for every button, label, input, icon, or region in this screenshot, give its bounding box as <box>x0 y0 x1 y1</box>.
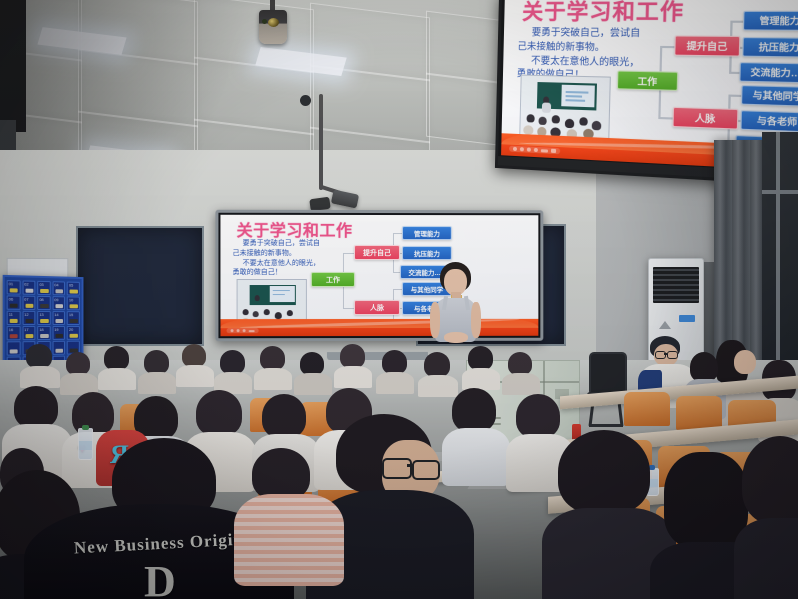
left-wall-panel <box>0 0 26 132</box>
control-dot-icon[interactable] <box>231 329 234 332</box>
diagram-leaf-classmates[interactable]: 与其他同学 <box>741 85 798 107</box>
pocket-number: 18 <box>39 327 43 332</box>
slide-body-line: 要勇于突破自己，尝试自 <box>233 239 351 249</box>
pocket-number: 15 <box>69 312 73 317</box>
diagram-node-network[interactable]: 人脉 <box>672 107 738 130</box>
presenter-arm-right <box>471 302 481 338</box>
phone-pocket[interactable]: 19 <box>52 326 65 340</box>
control-dot-icon[interactable] <box>534 148 538 152</box>
presenter-hands <box>444 332 468 343</box>
pocket-number: 09 <box>54 297 58 302</box>
phone-pocket[interactable]: 08 <box>37 296 50 310</box>
glasses-icon <box>667 351 678 359</box>
phone-pocket[interactable]: 03 <box>37 281 50 295</box>
diagram-connector <box>343 253 354 254</box>
pocket-number: 17 <box>24 327 28 332</box>
diagram-leaf-teachers[interactable]: 与各老师 <box>740 110 798 133</box>
ac-badge <box>679 315 695 322</box>
pocket-number: 14 <box>54 312 58 317</box>
pocket-number: 06 <box>9 296 13 301</box>
pocket-number: 13 <box>39 312 43 317</box>
office-chair[interactable] <box>585 352 627 428</box>
lecture-seat <box>624 392 670 426</box>
chair-backrest <box>589 352 627 396</box>
pocket-number: 16 <box>9 327 13 332</box>
pocket-number: 20 <box>69 327 73 332</box>
top-strap-right <box>464 296 470 310</box>
slide-title-projected: 关于学习和工作 <box>237 217 353 241</box>
phone-pocket[interactable]: 06 <box>7 295 21 309</box>
pocket-number: 08 <box>39 297 43 302</box>
water-bottle <box>78 428 93 460</box>
dome-security-camera <box>256 0 290 52</box>
slide-body-line: 不要太在意他人的眼光， <box>233 259 351 269</box>
diagram-leaf-management-projected[interactable]: 管理能力 <box>402 226 452 240</box>
pocket-number: 03 <box>39 282 43 287</box>
control-dot-icon[interactable] <box>527 148 531 152</box>
phone-pocket[interactable]: 11 <box>7 311 21 325</box>
phone-pocket[interactable]: 15 <box>67 311 80 325</box>
control-bar-icon[interactable] <box>551 149 556 153</box>
interactive-whiteboard[interactable]: 关于学习和工作 要勇于突破自己，尝试自 己未接触的新事物。 不要太在意他人的眼光… <box>215 210 543 341</box>
ac-vent-grille <box>653 267 699 303</box>
slide-footer-wave-projected <box>220 319 538 336</box>
pocket-number: 12 <box>24 312 28 317</box>
phone-pocket[interactable]: 16 <box>7 326 21 340</box>
phone-pocket[interactable]: 17 <box>22 326 35 340</box>
smart-board-assembly: 关于学习和工作 要勇于突破自己，尝试自 己未接触的新事物。 不要太在意他人的眼光… <box>195 206 558 352</box>
phone-pocket[interactable]: 12 <box>22 311 35 325</box>
diagram-connector <box>660 46 675 48</box>
phone-pocket[interactable]: 18 <box>37 326 50 340</box>
phone-pocket[interactable]: 10 <box>67 296 80 310</box>
slide-body-line: 要勇于突破自己，尝试自 <box>518 26 675 41</box>
ac-logo-icon <box>659 321 671 329</box>
control-bar-icon[interactable] <box>541 149 548 152</box>
phone-pocket[interactable] <box>7 341 21 355</box>
pocket-number: 04 <box>54 282 58 287</box>
diagram-node-improve-self[interactable]: 提升自己 <box>674 35 740 56</box>
glasses-icon <box>412 460 440 480</box>
phone-pocket[interactable]: 14 <box>52 311 65 325</box>
diagram-node-work-projected[interactable]: 工作 <box>311 272 355 287</box>
pocket-number: 07 <box>24 297 28 302</box>
ceiling-sensor-icon <box>300 95 312 107</box>
control-dot-icon[interactable] <box>237 329 240 332</box>
whiteboard-screen: 关于学习和工作 要勇于突破自己，尝试自 己未接触的新事物。 不要太在意他人的眼光… <box>220 215 538 336</box>
pocket-number: 02 <box>24 282 28 287</box>
control-dot-icon[interactable] <box>513 147 517 151</box>
lecture-hall-photo: 关于学习和工作 要勇于突破自己，尝试自 己未接触的新事物。 不要太在意他人的眼光… <box>0 0 798 599</box>
phone-pocket[interactable] <box>52 341 65 355</box>
phone-pocket[interactable]: 07 <box>22 296 35 310</box>
glasses-icon <box>382 458 412 479</box>
window-curtain[interactable] <box>714 140 768 372</box>
slide-title: 关于学习和工作 <box>522 0 685 27</box>
pocket-number: 10 <box>69 297 73 302</box>
diagram-leaf-stress[interactable]: 抗压能力 <box>742 37 798 58</box>
diagram-leaf-stress-projected[interactable]: 抗压能力 <box>402 246 452 260</box>
pocket-number: 01 <box>9 281 13 286</box>
chalkboard-left <box>76 226 204 346</box>
diagram-node-work[interactable]: 工作 <box>617 70 678 90</box>
phone-pocket[interactable]: 05 <box>67 282 80 296</box>
diagram-node-improve-self-projected[interactable]: 提升自己 <box>354 245 400 260</box>
presenter-arm-left <box>430 302 440 338</box>
presentation-controls-projected[interactable] <box>227 328 259 333</box>
diagram-leaf-management[interactable]: 管理能力 <box>743 11 798 31</box>
control-bar-icon[interactable] <box>249 330 255 332</box>
slide-body-line: 己未接触的新事物。 <box>233 249 351 259</box>
phone-pocket[interactable]: 04 <box>52 281 65 295</box>
lecture-seat <box>676 396 722 430</box>
control-dot-icon[interactable] <box>520 147 524 151</box>
window <box>762 132 798 382</box>
phone-pocket[interactable]: 02 <box>22 280 35 294</box>
control-dot-icon[interactable] <box>243 329 246 332</box>
phone-pocket[interactable]: 20 <box>67 326 80 340</box>
pocket-number: 19 <box>54 327 58 332</box>
phone-pocket[interactable]: 13 <box>37 311 50 325</box>
phone-pocket[interactable]: 09 <box>52 296 65 310</box>
slide-on-whiteboard: 关于学习和工作 要勇于突破自己，尝试自 己未接触的新事物。 不要太在意他人的眼光… <box>220 215 538 336</box>
pocket-number: 05 <box>69 283 73 288</box>
diagram-leaf-communication[interactable]: 交流能力…… <box>739 62 798 84</box>
pocket-number: 11 <box>9 312 13 317</box>
diagram-connector <box>658 117 673 119</box>
shirt-logo: D <box>144 556 176 599</box>
projector-mount-arm <box>319 94 323 190</box>
phone-pocket[interactable]: 01 <box>7 280 21 295</box>
diagram-connector <box>343 308 354 309</box>
